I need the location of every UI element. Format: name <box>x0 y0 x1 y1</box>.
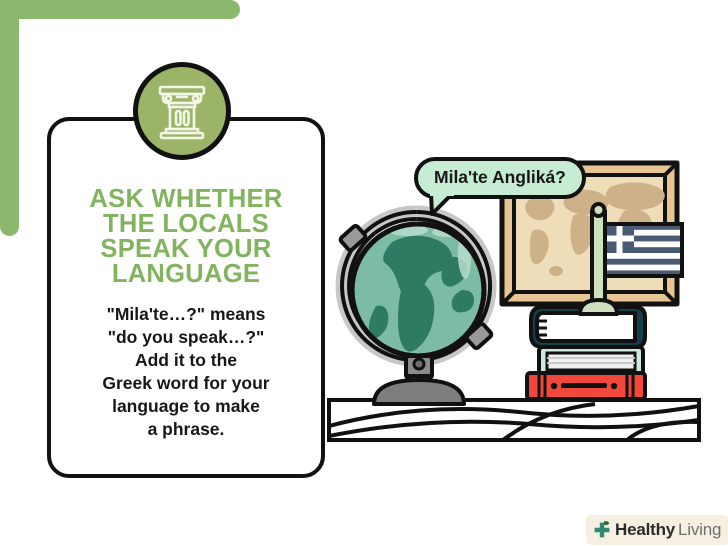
page-title: ASK WHETHER THE LOCALS SPEAK YOUR LANGUA… <box>63 187 309 287</box>
tip-card: ASK WHETHER THE LOCALS SPEAK YOUR LANGUA… <box>47 117 325 478</box>
headline-line: LANGUAGE <box>63 262 309 287</box>
infographic-canvas: Mila'te Angliká? <box>0 0 728 546</box>
body-line: "Mila'te…?" means <box>63 303 309 326</box>
badge-circle <box>133 62 231 160</box>
corner-bracket-vertical <box>0 0 19 236</box>
logo-light-text: Living <box>678 520 721 540</box>
headline-line: THE LOCALS <box>63 212 309 237</box>
green-cross-leaf-icon <box>592 520 612 540</box>
headline-line: ASK WHETHER <box>63 187 309 212</box>
headline-line: SPEAK YOUR <box>63 237 309 262</box>
body-line: "do you speak…?" <box>63 326 309 349</box>
speech-bubble-text: Mila'te Angliká? <box>414 157 586 199</box>
corner-bracket-horizontal <box>0 0 240 19</box>
healthy-living-logo: Healthy Living <box>586 515 728 545</box>
logo-bold-text: Healthy <box>615 520 675 540</box>
tip-body-text: "Mila'te…?" means "do you speak…?" Add i… <box>63 303 309 441</box>
body-line: a phrase. <box>63 418 309 441</box>
body-line: language to make <box>63 395 309 418</box>
speech-bubble: Mila'te Angliká? <box>414 157 586 199</box>
speech-bubble-tail <box>428 194 454 216</box>
body-line: Add it to the <box>63 349 309 372</box>
body-line: Greek word for your <box>63 372 309 395</box>
desk-globe-icon <box>318 198 514 415</box>
greek-column-icon <box>151 80 213 142</box>
greek-flag-icon <box>576 196 688 323</box>
